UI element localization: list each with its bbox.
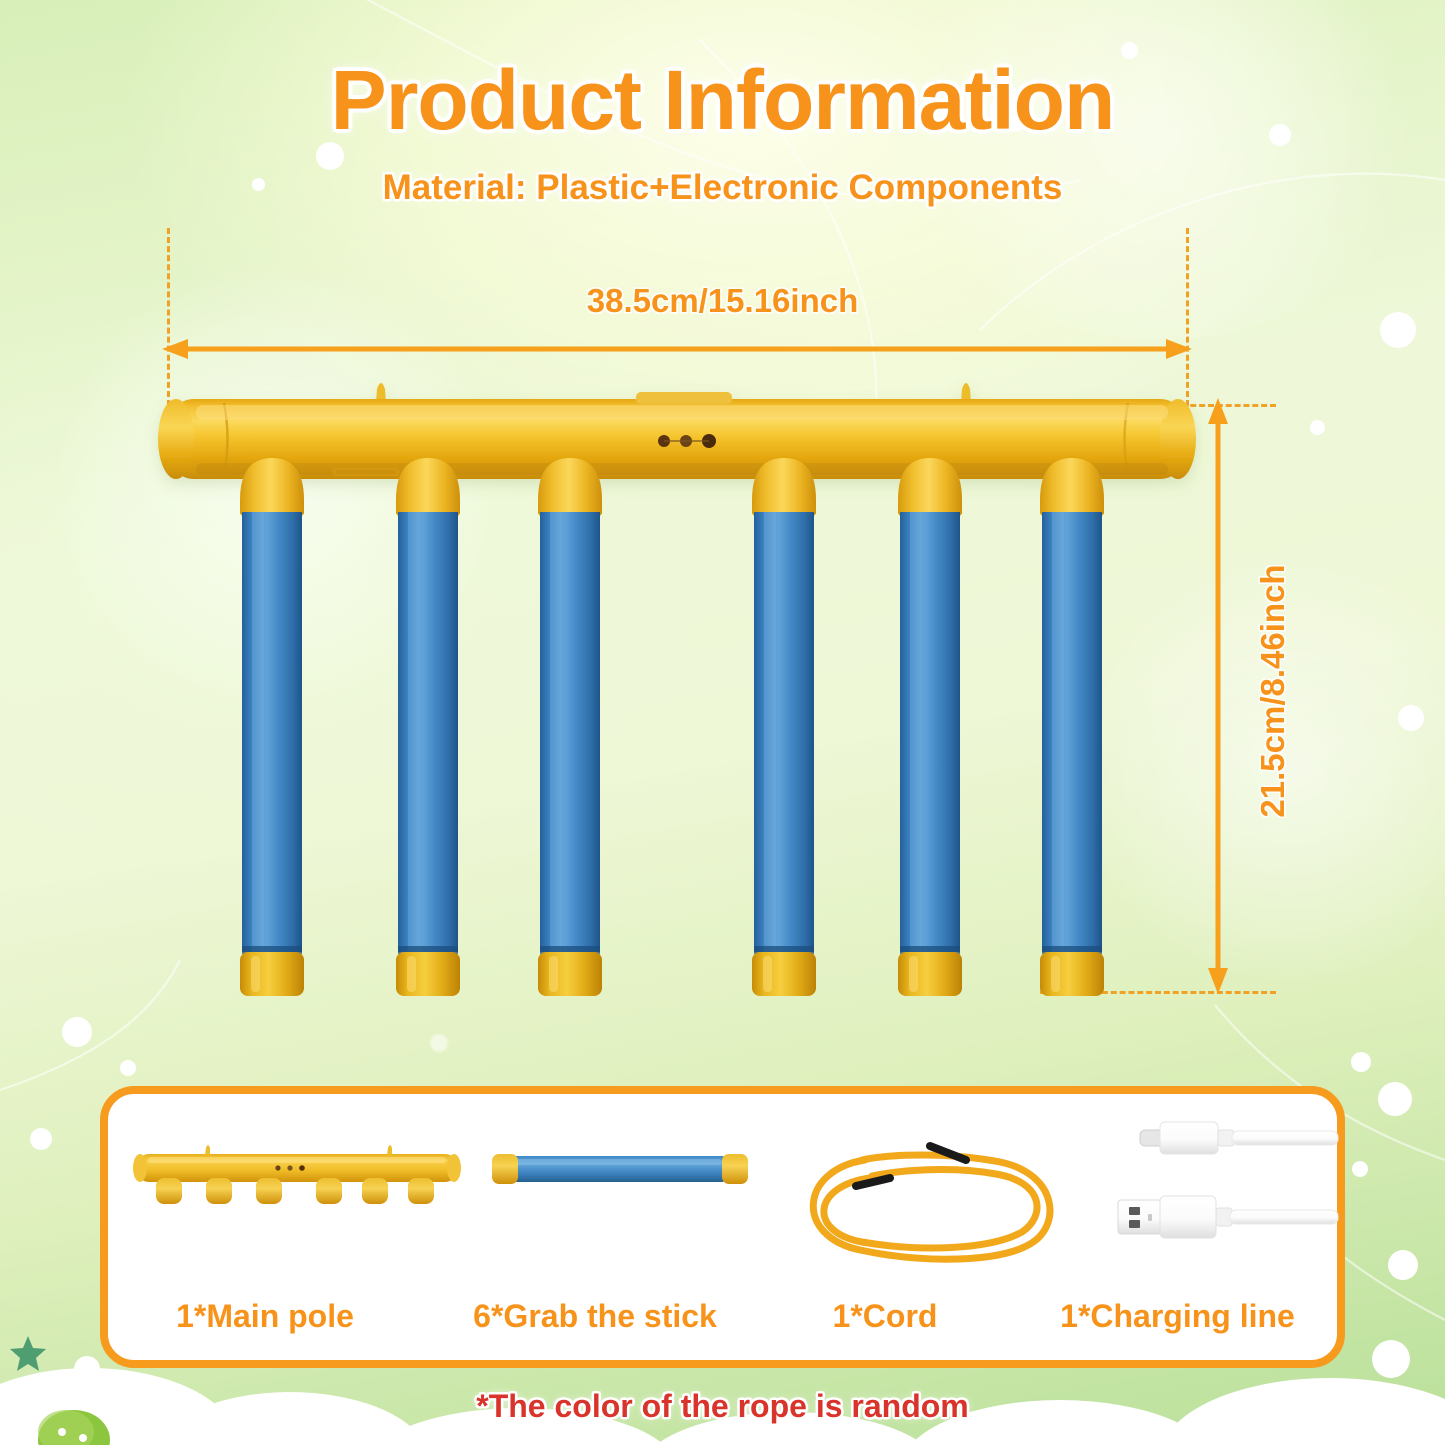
bokeh-circle bbox=[1398, 705, 1424, 731]
grab-stick bbox=[752, 458, 816, 996]
width-dimension-label: 38.5cm/15.16inch bbox=[0, 282, 1445, 320]
accessory-label-main-pole: 1*Main pole bbox=[100, 1298, 430, 1335]
bokeh-circle bbox=[430, 1034, 448, 1052]
page-subtitle: Material: Plastic+Electronic Components bbox=[0, 168, 1445, 208]
grab-stick bbox=[538, 458, 602, 996]
accessory-labels: 1*Main pole 6*Grab the stick 1*Cord 1*Ch… bbox=[100, 1286, 1345, 1346]
bokeh-circle bbox=[1352, 1161, 1368, 1177]
bokeh-circle bbox=[30, 1128, 52, 1150]
bokeh-circle bbox=[1378, 1082, 1412, 1116]
bokeh-circle bbox=[1310, 420, 1325, 435]
width-dimension-arrow bbox=[160, 336, 1194, 362]
grab-stick bbox=[898, 458, 962, 996]
background-glow bbox=[60, 270, 490, 700]
accessory-label-charging-line: 1*Charging line bbox=[1010, 1298, 1345, 1335]
bokeh-circle bbox=[120, 1060, 136, 1076]
grab-stick bbox=[1040, 458, 1104, 996]
cord-icon bbox=[813, 1155, 1050, 1259]
guide-line-bottom bbox=[1040, 991, 1276, 994]
footnote-text: *The color of the rope is random bbox=[0, 1388, 1445, 1425]
main-pole-body bbox=[158, 383, 1196, 479]
bokeh-circle bbox=[1372, 1340, 1410, 1378]
charging-line-icon bbox=[1118, 1122, 1338, 1238]
bokeh-circle bbox=[1388, 1250, 1418, 1280]
height-dimension-arrow bbox=[1205, 396, 1231, 996]
accessory-label-cord: 1*Cord bbox=[760, 1298, 1010, 1335]
bokeh-circle bbox=[74, 1356, 100, 1382]
grab-stick bbox=[396, 458, 460, 996]
bokeh-circle bbox=[1351, 1052, 1371, 1072]
page-title: Product Information bbox=[0, 52, 1445, 149]
height-dimension-label: 21.5cm/8.46inch bbox=[1254, 546, 1292, 836]
accessory-label-grab-stick: 6*Grab the stick bbox=[430, 1298, 760, 1335]
grab-stick bbox=[240, 458, 304, 996]
green-star-decoration bbox=[8, 1334, 48, 1374]
product-information-infographic: Product Information Material: Plastic+El… bbox=[0, 0, 1445, 1445]
main-pole-icon bbox=[133, 1145, 461, 1204]
bokeh-circle bbox=[62, 1017, 92, 1047]
grab-stick-icon bbox=[492, 1154, 748, 1184]
indicator-dots bbox=[658, 434, 716, 448]
